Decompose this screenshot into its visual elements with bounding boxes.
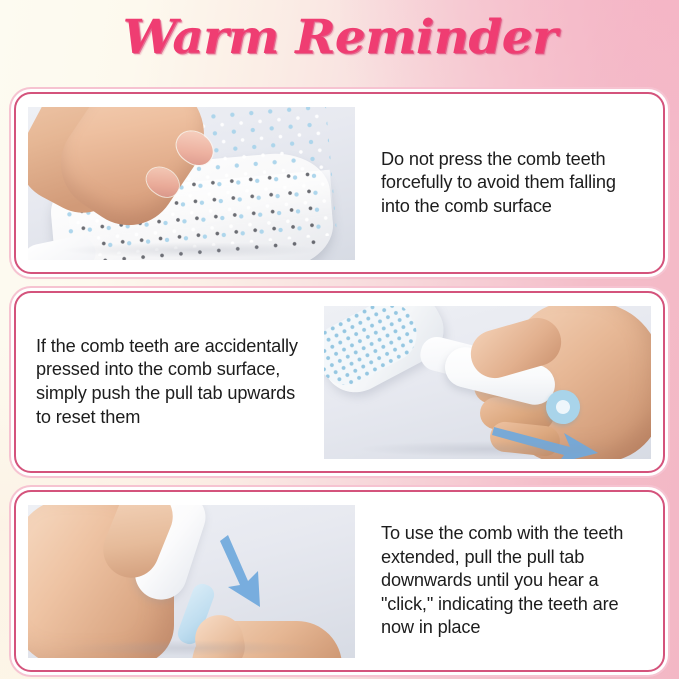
infographic-page: Warm Reminder Do not press the comb teet…	[0, 0, 679, 679]
pull-tab-photo	[28, 505, 355, 658]
photo-floor-shadow	[61, 242, 323, 258]
reminder-panel-1: Do not press the comb teeth forcefully t…	[14, 92, 665, 274]
direction-arrow-icon	[214, 533, 284, 611]
comb-pressing-photo	[28, 107, 355, 260]
photo-floor-shadow	[61, 640, 323, 656]
comb-held-photo	[324, 306, 651, 459]
page-title-container: Warm Reminder	[0, 14, 679, 61]
panel-1-caption: Do not press the comb teeth forcefully t…	[367, 148, 663, 219]
panel-list: Do not press the comb teeth forcefully t…	[14, 92, 665, 672]
page-title: Warm Reminder	[122, 14, 556, 61]
pull-tab-photo-panel: To use the comb with the teeth extended,…	[14, 490, 665, 672]
panel-2-caption: If the comb teeth are accidentally press…	[16, 335, 312, 430]
panel-3-caption: To use the comb with the teeth extended,…	[367, 522, 663, 640]
reminder-panel-2: If the comb teeth are accidentally press…	[14, 291, 665, 473]
photo-floor-shadow	[357, 441, 619, 457]
